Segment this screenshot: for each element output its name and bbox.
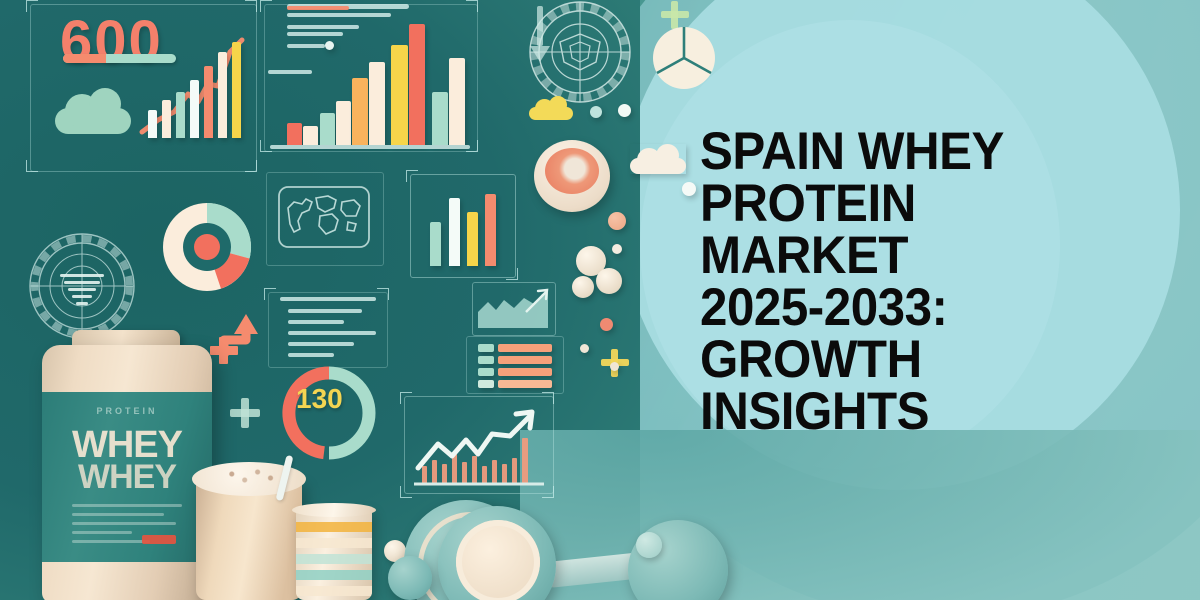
- chart-bar: [467, 212, 478, 266]
- title-line-3: 2025-2033:: [700, 282, 1109, 334]
- corner-bracket-icon: [260, 0, 272, 12]
- text-line: [287, 25, 359, 29]
- sphere-decor: [572, 276, 594, 298]
- chart-bar: [232, 42, 241, 138]
- chart-bar: [287, 123, 302, 145]
- corner-bracket-icon: [466, 0, 478, 12]
- trend-chart: [412, 404, 548, 486]
- label-text-line: [72, 504, 182, 507]
- cup-stripe: [296, 554, 372, 564]
- corner-bracket-icon: [542, 392, 554, 404]
- marker-dot-icon: [325, 41, 334, 50]
- legend-swatch: [478, 368, 494, 376]
- cloud-icon: [529, 96, 573, 120]
- title-line-5: INSIGHTS: [700, 386, 1109, 438]
- cup-rim: [292, 503, 376, 517]
- text-line: [288, 331, 376, 335]
- label-text-line: [72, 513, 164, 516]
- chart-bar: [432, 92, 448, 145]
- cloud-icon: [55, 88, 131, 134]
- page-title: SPAIN WHEY PROTEIN MARKET 2025-2033: GRO…: [700, 126, 1109, 438]
- chart-bar: [409, 24, 425, 145]
- chart-bar: [148, 110, 157, 138]
- chart-bar: [369, 62, 385, 145]
- chart-bar: [218, 52, 227, 138]
- corner-bracket-icon: [506, 268, 518, 280]
- donut-chart: [152, 192, 262, 302]
- chart-bar: [204, 66, 213, 138]
- label-accent-chip: [142, 535, 176, 544]
- sphere-decor: [612, 244, 622, 254]
- chart-bar: [449, 198, 460, 266]
- cup-stripe: [296, 570, 372, 580]
- chart-bar: [176, 92, 185, 138]
- dumbbell-end-cap: [388, 556, 432, 600]
- corner-bracket-icon: [400, 486, 412, 498]
- legend-bar: [498, 380, 552, 388]
- dumbbell-face: [456, 520, 540, 600]
- legend-bar: [498, 344, 552, 352]
- legend-swatch: [478, 344, 494, 352]
- sphere-decor: [636, 532, 662, 558]
- text-line: [287, 13, 391, 17]
- title-line-2: PROTEIN MARKET: [700, 178, 1109, 282]
- cloud-icon: [630, 144, 686, 174]
- text-line: [288, 309, 362, 313]
- chart-bar: [303, 126, 318, 145]
- chart-bar: [320, 113, 335, 145]
- corner-bracket-icon: [26, 160, 38, 172]
- label-text-line: [72, 540, 150, 543]
- sphere-decor: [580, 344, 589, 353]
- title-line-4: GROWTH: [700, 334, 1109, 386]
- corner-bracket-icon: [400, 392, 412, 404]
- sphere-decor: [608, 212, 626, 230]
- striped-paper-cup: [296, 508, 372, 600]
- text-line: [287, 32, 343, 36]
- bottle-label: PROTEIN WHEY WHEY: [42, 392, 212, 562]
- text-line: [268, 70, 312, 74]
- chart-bar: [162, 100, 171, 138]
- chart-bar: [430, 222, 441, 266]
- sphere-decor: [600, 318, 613, 331]
- chart-bar: [336, 101, 351, 145]
- legend-bar: [498, 356, 552, 364]
- legend-swatch: [478, 356, 494, 364]
- sphere-decor: [596, 268, 622, 294]
- sphere-decor: [610, 362, 619, 371]
- label-text-line: [72, 522, 176, 525]
- corner-bracket-icon: [542, 486, 554, 498]
- text-line-highlight: [287, 6, 349, 10]
- corner-bracket-icon: [26, 0, 38, 12]
- pie-chart-3-slices: [652, 26, 716, 90]
- text-line: [288, 353, 334, 357]
- text-line: [288, 320, 344, 324]
- corner-bracket-icon: [406, 170, 418, 182]
- label-text-line: [72, 531, 132, 534]
- text-line: [280, 297, 376, 301]
- sphere-decor: [590, 106, 602, 118]
- corner-bracket-icon: [377, 288, 389, 300]
- area-chart: [476, 286, 550, 330]
- cup-stripe: [296, 522, 372, 532]
- chart-axis: [270, 145, 470, 149]
- legend-bar: [498, 368, 552, 376]
- protein-shake: [196, 480, 302, 600]
- bottle-brand-text: PROTEIN: [42, 406, 212, 416]
- bottle-label-line-2: WHEY: [42, 458, 212, 497]
- kpi-value-130: 130: [296, 383, 343, 415]
- cup-stripe: [296, 538, 372, 548]
- down-arrow-icon: [526, 6, 554, 66]
- corner-bracket-icon: [245, 160, 257, 172]
- text-line: [288, 342, 354, 346]
- chart-bar: [391, 45, 408, 145]
- chart-bar: [190, 80, 199, 138]
- chart-bar: [485, 194, 496, 266]
- sphere-decor: [618, 104, 631, 117]
- sphere-decor: [682, 182, 696, 196]
- corner-bracket-icon: [245, 0, 257, 12]
- text-line: [287, 44, 325, 48]
- radial-tech-gauge-icon: [24, 228, 140, 344]
- bowl-contents: [545, 148, 599, 194]
- corner-bracket-icon: [264, 288, 276, 300]
- plus-icon: [228, 396, 262, 430]
- panel-mini-bars: [410, 174, 516, 278]
- cup-stripe: [296, 586, 372, 596]
- chart-bar: [352, 78, 368, 145]
- growth-arrow-icon: [206, 306, 268, 378]
- legend-swatch: [478, 380, 494, 388]
- progress-bar-fill: [63, 54, 106, 63]
- title-line-1: SPAIN WHEY: [700, 126, 1109, 178]
- chart-bar: [449, 58, 465, 145]
- banner-root: 600: [0, 0, 1200, 600]
- world-map-icon: [278, 186, 370, 248]
